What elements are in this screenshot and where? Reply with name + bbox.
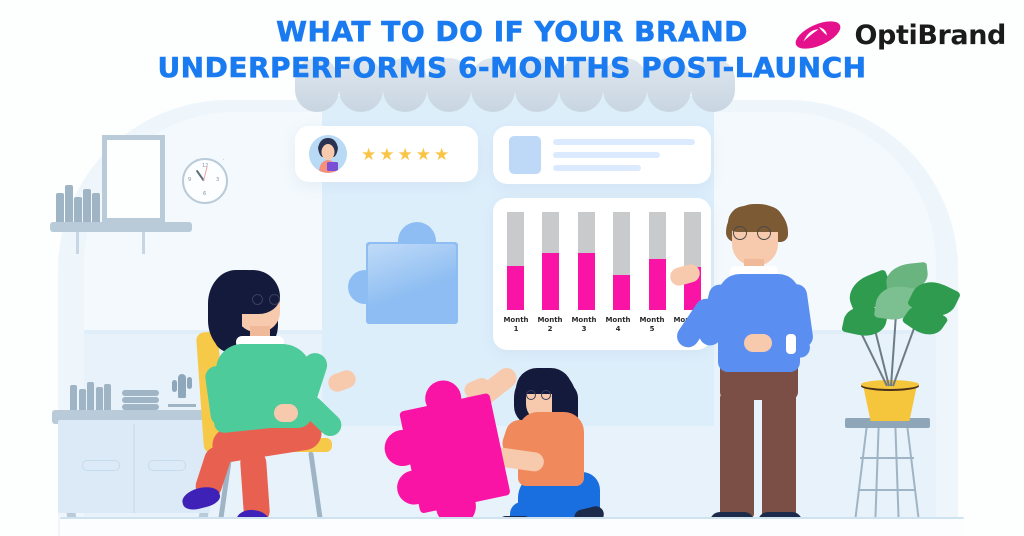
cabinet-handle-left[interactable] xyxy=(82,460,120,471)
left-hand xyxy=(274,404,298,422)
book xyxy=(122,390,159,396)
left-leg xyxy=(720,392,754,518)
brand-logo[interactable]: OptiBrand xyxy=(792,18,1006,52)
shelf-bracket-left xyxy=(76,232,79,254)
image-thumbnail-placeholder xyxy=(509,136,541,174)
chart-x-label: Month2 xyxy=(535,316,565,334)
glasses-icon xyxy=(252,294,282,305)
chart-bar xyxy=(542,212,559,310)
infographic-banner: WHAT TO DO IF YOUR BRAND UNDERPERFORMS 6… xyxy=(0,0,1024,536)
seated-woman xyxy=(178,270,388,536)
chart-bar xyxy=(578,212,595,310)
standing-man xyxy=(700,204,840,536)
glasses-icon xyxy=(733,226,775,240)
chart-bar-fill xyxy=(542,253,559,310)
book xyxy=(56,193,64,223)
shelf-books xyxy=(56,185,96,223)
floor-surface xyxy=(60,519,964,536)
star-icon: ★ xyxy=(398,146,413,163)
chart-bars xyxy=(507,212,701,310)
star-icon: ★ xyxy=(416,146,431,163)
content-card[interactable] xyxy=(493,126,711,184)
cabinet-books xyxy=(70,382,114,411)
star-icon: ★ xyxy=(379,146,394,163)
chart-bar xyxy=(649,212,666,310)
chart-x-label: Month4 xyxy=(603,316,633,334)
title-line-1: WHAT TO DO IF YOUR BRAND xyxy=(276,15,748,48)
chart-bar-fill xyxy=(649,259,666,310)
shirt-cuff xyxy=(786,334,796,354)
chart-x-label: Month1 xyxy=(501,316,531,334)
wall-clock: 12 3 6 9 xyxy=(182,158,228,204)
clock-number-6: 6 xyxy=(203,191,206,197)
placeholder-line-1 xyxy=(553,139,695,145)
book xyxy=(79,389,86,411)
chart-x-label: Month3 xyxy=(569,316,599,334)
chart-x-label: Month5 xyxy=(637,316,667,334)
stacked-books xyxy=(122,390,159,411)
wall-shelf xyxy=(50,222,192,232)
book xyxy=(74,197,82,223)
plant-stand xyxy=(858,427,916,519)
book xyxy=(92,193,100,223)
right-hand xyxy=(744,334,772,352)
clock-number-3: 3 xyxy=(216,177,219,183)
shelf-bracket-right xyxy=(142,232,145,254)
chart-bar xyxy=(613,212,630,310)
logo-text: OptiBrand xyxy=(854,20,1006,51)
clock-hanger-icon xyxy=(195,138,223,160)
picture-frame xyxy=(102,135,165,223)
user-avatar-icon xyxy=(309,135,347,173)
book xyxy=(70,385,77,411)
book xyxy=(83,189,91,223)
rating-stars: ★★★★★ xyxy=(361,146,449,163)
left-shoe xyxy=(180,484,222,513)
star-icon: ★ xyxy=(361,146,376,163)
placeholder-line-3 xyxy=(553,165,641,171)
book xyxy=(87,382,94,411)
right-hand xyxy=(326,368,358,394)
right-leg xyxy=(762,392,796,518)
cabinet-divider xyxy=(133,424,135,513)
chart-bar-fill xyxy=(613,275,630,310)
swoosh-ellipse-icon xyxy=(792,18,844,52)
chart-bar-fill xyxy=(507,266,524,310)
book xyxy=(65,185,73,223)
clock-number-9: 9 xyxy=(188,177,191,183)
text-placeholder-lines xyxy=(553,139,695,171)
chart-bar-fill xyxy=(578,253,595,310)
glasses-icon xyxy=(526,390,552,400)
book xyxy=(96,387,103,411)
title-line-2: UNDERPERFORMS 6-MONTHS POST-LAUNCH xyxy=(0,50,1024,86)
chart-bar xyxy=(507,212,524,310)
book xyxy=(122,397,159,403)
book xyxy=(104,384,111,411)
chart-bar xyxy=(684,212,701,310)
chart-x-axis-labels: Month1Month2Month3Month4Month5Month6 xyxy=(507,316,701,334)
star-icon: ★ xyxy=(434,146,449,163)
placeholder-line-2 xyxy=(553,152,660,158)
review-card[interactable]: ★★★★★ xyxy=(295,126,478,182)
